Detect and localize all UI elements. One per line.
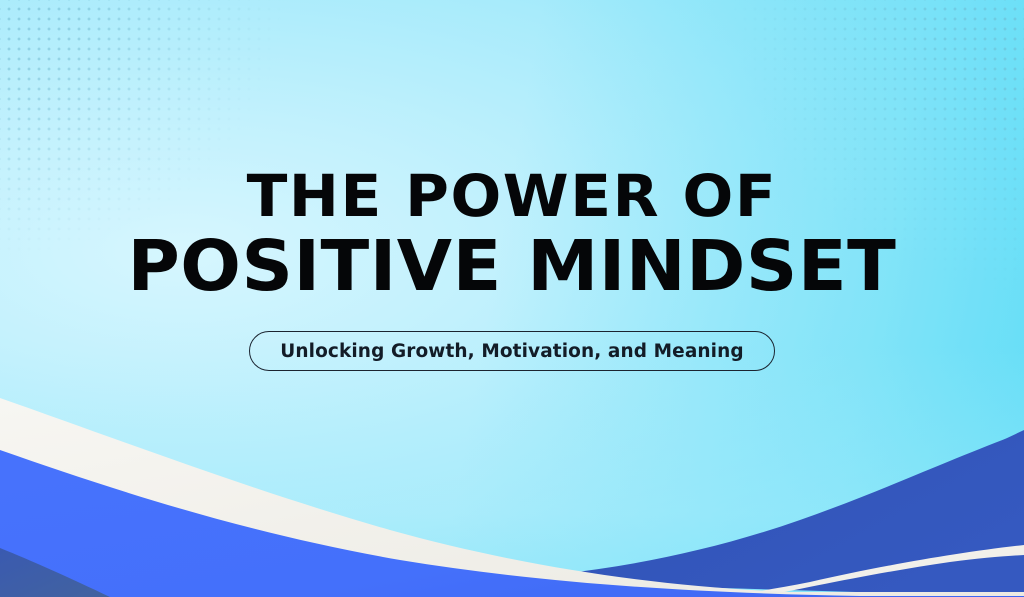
- poster-canvas: THE POWER OF POSITIVE MINDSET Unlocking …: [0, 0, 1024, 597]
- page-title-line-2: POSITIVE MINDSET: [128, 232, 897, 301]
- page-title-line-1: THE POWER OF: [124, 168, 900, 225]
- subtitle-pill: Unlocking Growth, Motivation, and Meanin…: [249, 331, 774, 371]
- poster-content: THE POWER OF POSITIVE MINDSET Unlocking …: [0, 0, 1024, 597]
- subtitle-text: Unlocking Growth, Motivation, and Meanin…: [280, 341, 743, 362]
- page-title: THE POWER OF POSITIVE MINDSET: [135, 168, 889, 300]
